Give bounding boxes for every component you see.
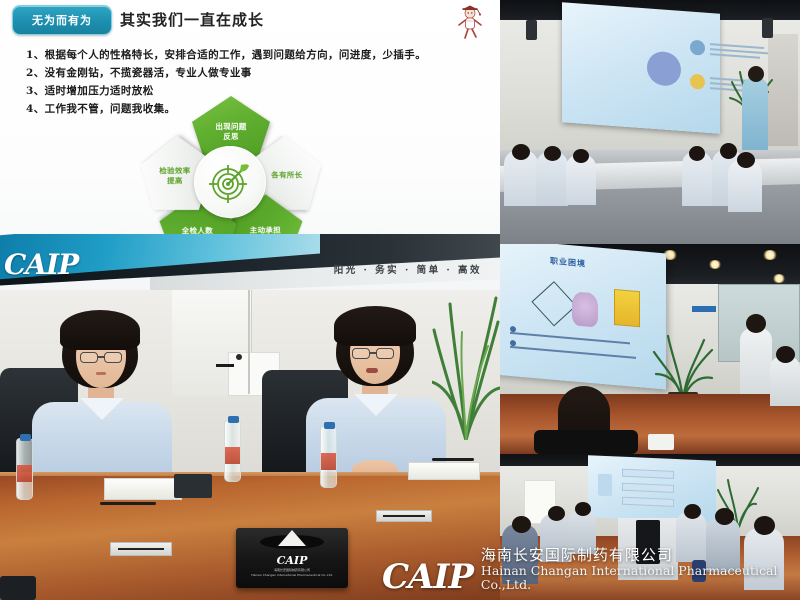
tissue-box-company-en: Hainan Changan International Pharmaceuti… (236, 573, 348, 578)
petal-label-line1: 检验效率 (159, 166, 190, 175)
petal-label-line2: 提高 (167, 176, 183, 185)
bottle-label (321, 453, 336, 470)
bottle-cap (228, 416, 239, 423)
person-head (715, 508, 734, 525)
target-arrow-leaf-icon (207, 159, 253, 205)
slide-arrow-item (622, 497, 674, 507)
ceiling-downlight (708, 260, 722, 269)
person-head (548, 506, 565, 521)
diagram-center-hub (194, 146, 266, 218)
petal-label-line2: 反思 (223, 132, 239, 141)
person-head (689, 146, 705, 161)
paper-cup (648, 434, 674, 450)
person-head (748, 66, 764, 82)
eyeglass-lens-left (80, 352, 98, 363)
slide-bullet-dot (690, 40, 705, 56)
port-slot (118, 548, 164, 551)
projection-screen: 职业困境 (500, 244, 666, 390)
standing-presenter (740, 328, 772, 394)
person-head (684, 504, 701, 519)
folder (174, 474, 212, 498)
person-head (746, 314, 766, 333)
slide-character (572, 291, 598, 327)
footer-company-names: 海南长安国际制药有限公司 Hainan Changan Internationa… (481, 547, 800, 594)
table-cable-port (110, 542, 172, 556)
water-bottle (224, 420, 241, 482)
tissue-box: CAIP 海南长安国际制药有限公司 Hainan Changan Interna… (236, 528, 348, 588)
slide-arrow-item (622, 483, 674, 493)
ceiling-speaker (526, 20, 537, 40)
person-head (573, 149, 589, 163)
slide-bullet-dot (510, 340, 516, 347)
eyeglass-bridge (370, 352, 376, 354)
bottle-label (17, 465, 32, 482)
bullet-item: 2、没有金刚钻，不揽瓷器活，专业人做专业事 (26, 64, 476, 82)
footer-company-en: Hainan Changan International Pharmaceuti… (481, 564, 800, 592)
eyeglass-bridge (98, 356, 104, 358)
ceiling-speaker (762, 18, 773, 38)
pen (100, 502, 156, 505)
bullet-item: 1、根据每个人的性格特长，安排合适的工作，遇到问题给方向，问进度，少插手。 (26, 46, 476, 64)
person-head (754, 516, 775, 535)
ceiling-downlight (772, 274, 786, 283)
slide-bullet-dot (510, 326, 516, 333)
person-head (720, 143, 737, 159)
slide-diamond-shape (531, 281, 576, 326)
slide-text-line (510, 332, 630, 344)
petal-diagram: 出现问题 反思 各有所长 主动承担 项目 全检人数 (126, 96, 336, 256)
table-cable-port (376, 510, 432, 522)
chair-back (534, 430, 638, 454)
eyeglass-lens-right (376, 348, 394, 359)
slide-title: 其实我们一直在成长 (120, 9, 264, 30)
port-slot (383, 515, 424, 517)
person-head (512, 516, 531, 533)
person-head (575, 502, 591, 516)
slide-yellow-card (614, 289, 640, 327)
presentation-slide: 无为而有为 其实我们一直在成长 1、根据每个人的性格特长，安排合适的工作，遇到问… (0, 0, 500, 290)
conference-room-presentation-photo (500, 0, 800, 244)
footer-branding: CAIP 海南长安国际制药有限公司 Hainan Changan Interna… (382, 547, 800, 594)
whiteboard-marker-line (216, 364, 234, 367)
person-head (512, 144, 530, 160)
screenshot-canvas: 无为而有为 其实我们一直在成长 1、根据每个人的性格特长，安排合适的工作，遇到问… (0, 0, 800, 600)
training-session-photo: 职业困境 (500, 244, 800, 454)
laptop-corner (0, 576, 36, 600)
wall-edge (248, 290, 250, 394)
graduate-cartoon-icon (448, 1, 492, 41)
eyeglass-lens-left (352, 348, 370, 359)
bottle-cap (324, 422, 335, 429)
bottle-cap (20, 434, 31, 441)
slide-banner: CAIP 阳光 · 务实 · 简单 · 高效 (0, 234, 500, 290)
petal-label: 各有所长 (267, 171, 306, 181)
tissue-box-logo: CAIP (236, 554, 348, 567)
slide-big-circle (647, 50, 681, 86)
standing-presenter (742, 78, 768, 150)
water-bottle (320, 426, 337, 488)
person-head (737, 152, 755, 168)
whiteboard-magnet (236, 354, 242, 360)
petal-label: 出现问题 反思 (211, 122, 250, 142)
person-mouth (96, 372, 106, 375)
slide-text-line (510, 346, 636, 359)
footer-company-cn: 海南长安国际制药有限公司 (481, 547, 800, 564)
slide-bullet-dot (690, 74, 705, 90)
person-hair-top (60, 310, 140, 350)
notepad (408, 462, 480, 480)
eyeglass-lens-right (104, 352, 122, 363)
pen (432, 458, 474, 461)
slide-badge: 无为而有为 (12, 5, 112, 35)
banner-caip-logo: CAIP (4, 248, 78, 281)
slide-arrow-item (622, 469, 674, 479)
wall-sign (692, 306, 716, 312)
projected-slide-title: 职业困境 (550, 255, 586, 269)
petal-label: 检验效率 提高 (155, 166, 194, 186)
potted-plant (652, 330, 714, 400)
banner-tagline: 阳光 · 务实 · 简单 · 高效 (334, 262, 482, 276)
water-bottle (16, 438, 33, 500)
person-mouth (366, 368, 378, 373)
seated-person (770, 356, 800, 406)
person-hair-top (334, 306, 416, 346)
person-head (776, 346, 795, 363)
person-head (544, 146, 561, 161)
tissue-box-company: 海南长安国际制药有限公司 Hainan Changan Internationa… (236, 568, 348, 577)
slide-left-block (598, 474, 612, 497)
bottle-label (225, 447, 240, 464)
slide-header: 无为而有为 其实我们一直在成长 (0, 0, 500, 40)
projection-screen (562, 2, 720, 134)
petal-label-line1: 各有所长 (271, 171, 302, 180)
ceiling-downlight (762, 250, 778, 260)
petal-label-line1: 出现问题 (215, 122, 246, 131)
footer-caip-logo: CAIP (382, 560, 473, 594)
notepad (104, 478, 182, 500)
